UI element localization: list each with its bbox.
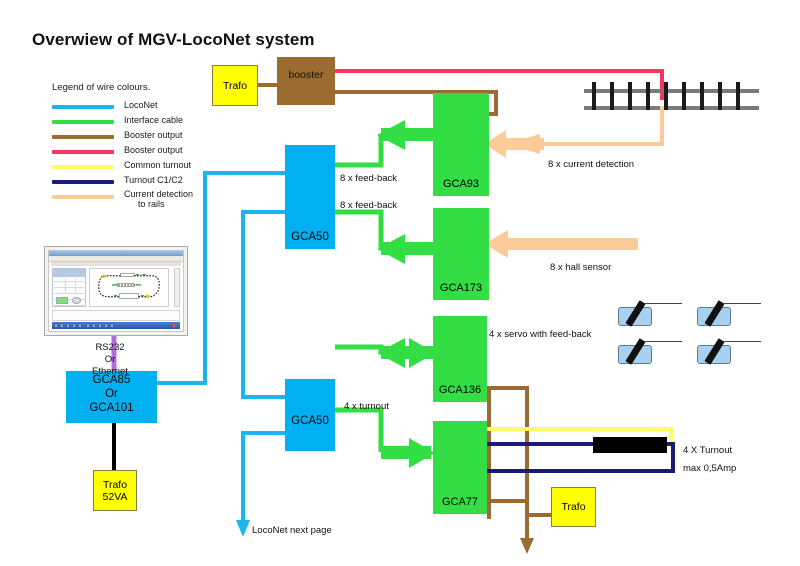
legend-swatch-current-detection: [52, 195, 114, 199]
annotation-hall-sensor: 8 x hall sensor: [550, 261, 611, 274]
legend-label-booster-output-brown: Booster output: [124, 130, 183, 140]
taskbar[interactable]: [52, 322, 180, 329]
wire-current-detection-rails: [484, 106, 662, 158]
wire-loconet-bus-gca50top-gca50bottom: [243, 212, 285, 397]
legend-title: Legend of wire colours.: [52, 82, 150, 93]
rails-track: [584, 82, 759, 110]
node-gca136[interactable]: GCA136: [433, 316, 487, 402]
wire-servo-gca136: [335, 338, 435, 368]
servo-icon-4: [697, 345, 767, 367]
wire-feedback-gca93: [335, 120, 433, 165]
annotation-feedback-bottom: 8 x feed-back: [340, 199, 397, 212]
node-gca93[interactable]: GCA93: [433, 93, 489, 196]
node-gca85-label-2: Or: [105, 387, 118, 401]
legend-swatch-common-turnout: [52, 165, 114, 169]
legend-swatch-turnout-c1c2: [52, 180, 114, 184]
node-gca85-label-3: GCA101: [89, 401, 133, 415]
monitor-screen: [48, 250, 184, 332]
node-gca50-bottom[interactable]: GCA50: [285, 379, 335, 451]
legend-label-current-detection-2: to rails: [138, 199, 165, 209]
panel-button-green[interactable]: [56, 297, 68, 304]
node-trafo-bottom[interactable]: Trafo: [551, 487, 596, 527]
annotation-feedback-top: 8 x feed-back: [340, 172, 397, 185]
panel-track-plan: [89, 268, 169, 307]
annotation-current-detection: 8 x current detection: [548, 158, 634, 171]
node-gca50-top[interactable]: GCA50: [285, 145, 335, 249]
servo-lever-line: [644, 341, 682, 342]
legend-label-interface-cable: Interface cable: [124, 115, 183, 125]
window-toolbar: [51, 262, 181, 266]
diagram-canvas: Overwiew of MGV-LocoNet system Legend of…: [0, 0, 800, 566]
statusbar: [52, 310, 180, 321]
annotation-turnout-right-2: max 0,5Amp: [683, 462, 736, 475]
annotation-turnout-right-1: 4 X Turnout: [683, 444, 732, 457]
legend-swatch-booster-output-red: [52, 150, 114, 154]
annotation-rs232-3: Ethernet: [64, 365, 156, 378]
legend-label-loconet: LocoNet: [124, 100, 158, 110]
node-trafo-top-label: Trafo: [223, 80, 247, 92]
panel-header: [53, 269, 85, 277]
servo-lever-line: [723, 341, 761, 342]
annotation-turnout-4x: 4 x turnout: [344, 400, 389, 413]
node-booster-label: booster: [288, 69, 323, 81]
node-gca93-label: GCA93: [443, 178, 479, 190]
wire-turnout-gca77: [335, 410, 435, 468]
scrollbar-vertical[interactable]: [174, 268, 180, 307]
node-trafo-52va-label-2: 52VA: [103, 491, 128, 503]
arrow-hall-sensor: [484, 230, 638, 258]
legend-swatch-booster-output-brown: [52, 135, 114, 139]
legend-label-booster-output-red: Booster output: [124, 145, 183, 155]
node-gca136-label: GCA136: [439, 384, 481, 396]
node-trafo-52va[interactable]: Trafo 52VA: [93, 470, 137, 511]
track-plan-svg: [90, 269, 168, 306]
panel-tablelist: [52, 268, 86, 307]
wire-feedback-gca173: [335, 212, 433, 264]
node-gca85[interactable]: GCA85 Or GCA101: [66, 371, 157, 423]
wire-loconet-next-page: [236, 433, 285, 537]
annotation-loconet-next-page: LocoNet next page: [252, 524, 332, 537]
node-gca173[interactable]: GCA173: [433, 208, 489, 300]
node-trafo-bottom-label: Trafo: [561, 501, 585, 513]
legend-swatch-loconet: [52, 105, 114, 109]
servo-lever-line: [644, 303, 682, 304]
node-gca173-label: GCA173: [440, 282, 482, 294]
legend-label-current-detection: Current detection: [124, 189, 193, 199]
servo-lever-line: [723, 303, 761, 304]
legend: LocoNet Interface cable Booster output B…: [52, 100, 232, 200]
node-gca77[interactable]: GCA77: [433, 421, 487, 514]
node-booster[interactable]: booster: [277, 57, 335, 105]
page-title: Overwiew of MGV-LocoNet system: [32, 30, 315, 50]
servo-icon-2: [697, 307, 767, 329]
turnout-coil: [593, 437, 667, 453]
annotation-servo-feedback: 4 x servo with feed-back: [489, 328, 591, 341]
node-gca50-top-label: GCA50: [291, 231, 329, 243]
node-gca77-label: GCA77: [442, 496, 478, 508]
panel-button-round[interactable]: [72, 297, 81, 304]
legend-label-common-turnout: Common turnout: [124, 160, 191, 170]
node-trafo-52va-label-1: Trafo: [103, 479, 127, 491]
computer-monitor[interactable]: [44, 246, 188, 336]
legend-label-turnout-c1c2: Turnout C1/C2: [124, 175, 183, 185]
legend-swatch-interface-cable: [52, 120, 114, 124]
node-trafo-top[interactable]: Trafo: [212, 65, 258, 106]
node-gca50-bottom-label: GCA50: [291, 415, 329, 427]
servo-icon-1: [618, 307, 688, 329]
servo-icon-3: [618, 345, 688, 367]
